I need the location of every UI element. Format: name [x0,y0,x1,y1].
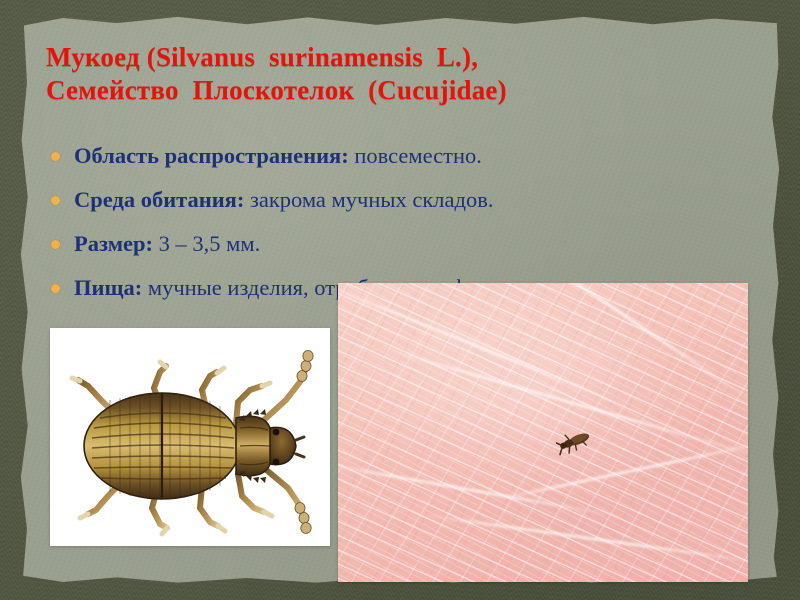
palm-crease [485,283,748,408]
title-line-2: Семейство Плоскотелок (Cucujidae) [46,74,766,107]
bullet-label: Размер: [74,231,153,256]
bullet-value: повсеместно. [349,143,482,168]
bullet-dot-icon [51,240,60,249]
bullet-label: Пища: [74,275,142,300]
palm-crease [338,283,627,408]
photo-highlight [338,283,748,582]
title-line-1: Мукоед (Silvanus surinamensis L.), [46,41,766,74]
bullet-label: Область распространения: [74,143,349,168]
live-beetle-on-skin [556,426,594,456]
skin-texture [338,283,748,582]
beetle-specimen-photo [50,328,330,546]
bullet-label: Среда обитания: [74,187,244,212]
beetle-on-palm-photo [338,283,748,582]
bullet-value: закрома мучных складов. [244,187,493,212]
bullet-dot-icon [51,152,60,161]
bullet-dot-icon [51,196,60,205]
bullet-item-distribution: Область распространения: повсеместно. [48,136,760,176]
bullet-dot-icon [51,284,60,293]
palm-crease [491,437,748,502]
palm-crease [338,462,616,517]
slide: Мукоед (Silvanus surinamensis L.), Семей… [0,0,800,600]
beetle-illustration [50,328,330,546]
palm-crease [420,513,748,566]
bullet-item-size: Размер: 3 – 3,5 мм. [48,224,760,264]
bullet-value: 3 – 3,5 мм. [153,231,260,256]
slide-title: Мукоед (Silvanus surinamensis L.), Семей… [46,41,766,107]
bullet-item-habitat: Среда обитания: закрома мучных складов. [48,180,760,220]
